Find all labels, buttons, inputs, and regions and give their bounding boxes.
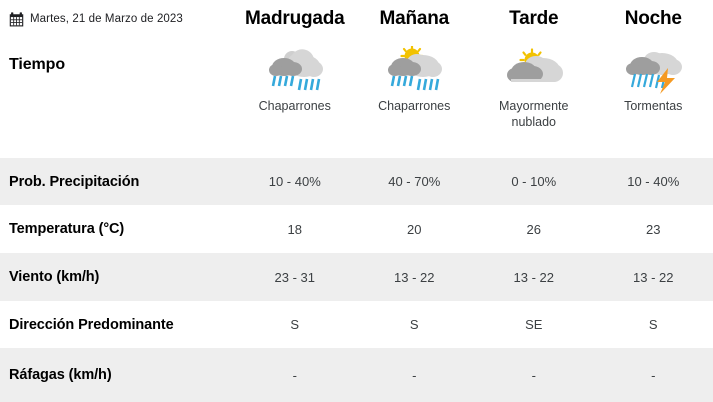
column-header-madrugada: Madrugada — [235, 0, 355, 38]
viento-manana: 13 - 22 — [355, 253, 475, 301]
rain-clouds-icon — [262, 46, 328, 96]
row-label-viento: Viento (km/h) — [0, 253, 235, 301]
temperatura-tarde: 26 — [474, 205, 594, 253]
direccion-madrugada: S — [235, 301, 355, 348]
column-header-manana: Mañana — [355, 0, 475, 38]
weather-cell-madrugada: Chaparrones — [235, 38, 355, 158]
weather-cell-manana: Chaparrones — [355, 38, 475, 158]
table-header-row: Martes, 21 de Marzo de 2023 Madrugada Ma… — [0, 0, 713, 38]
row-label-direccion-predominante: Dirección Predominante — [0, 301, 235, 348]
temperatura-noche: 23 — [594, 205, 713, 253]
row-label-tiempo: Tiempo — [0, 38, 235, 158]
direccion-manana: S — [355, 301, 475, 348]
table-row-prob-precipitacion: Prob. Precipitación 10 - 40% 40 - 70% 0 … — [0, 158, 713, 205]
weather-forecast-table: Martes, 21 de Marzo de 2023 Madrugada Ma… — [0, 0, 713, 402]
direccion-noche: S — [594, 301, 713, 348]
row-label-prob-precipitacion: Prob. Precipitación — [0, 158, 235, 205]
sun-rain-clouds-icon — [381, 46, 447, 96]
weather-cell-noche: Tormentas — [594, 38, 713, 158]
direccion-tarde: SE — [474, 301, 594, 348]
thunderstorm-icon — [620, 46, 686, 96]
temperatura-manana: 20 — [355, 205, 475, 253]
column-header-tarde: Tarde — [474, 0, 594, 38]
viento-noche: 13 - 22 — [594, 253, 713, 301]
prob-precipitacion-tarde: 0 - 10% — [474, 158, 594, 205]
prob-precipitacion-noche: 10 - 40% — [594, 158, 713, 205]
table-row-viento: Viento (km/h) 23 - 31 13 - 22 13 - 22 13… — [0, 253, 713, 301]
weather-cell-tarde: Mayormente nublado — [474, 38, 594, 158]
viento-madrugada: 23 - 31 — [235, 253, 355, 301]
row-label-rafagas: Ráfagas (km/h) — [0, 348, 235, 402]
table-row-direccion-predominante: Dirección Predominante S S SE S — [0, 301, 713, 348]
table-row-temperatura: Temperatura (°C) 18 20 26 23 — [0, 205, 713, 253]
forecast-date-text: Martes, 21 de Marzo de 2023 — [30, 13, 183, 25]
calendar-icon — [9, 12, 24, 27]
viento-tarde: 13 - 22 — [474, 253, 594, 301]
table-row-tiempo: Tiempo — [0, 38, 713, 158]
weather-label-madrugada: Chaparrones — [259, 98, 331, 114]
row-label-temperatura: Temperatura (°C) — [0, 205, 235, 253]
sun-behind-clouds-icon — [501, 46, 567, 96]
weather-label-noche: Tormentas — [624, 98, 682, 114]
rafagas-manana: - — [355, 348, 475, 402]
rafagas-noche: - — [594, 348, 713, 402]
prob-precipitacion-madrugada: 10 - 40% — [235, 158, 355, 205]
weather-label-manana: Chaparrones — [378, 98, 450, 114]
temperatura-madrugada: 18 — [235, 205, 355, 253]
column-header-noche: Noche — [594, 0, 713, 38]
rafagas-madrugada: - — [235, 348, 355, 402]
forecast-date: Martes, 21 de Marzo de 2023 — [0, 0, 235, 38]
table-row-rafagas: Ráfagas (km/h) - - - - — [0, 348, 713, 402]
prob-precipitacion-manana: 40 - 70% — [355, 158, 475, 205]
weather-label-tarde: Mayormente nublado — [482, 98, 586, 130]
rafagas-tarde: - — [474, 348, 594, 402]
